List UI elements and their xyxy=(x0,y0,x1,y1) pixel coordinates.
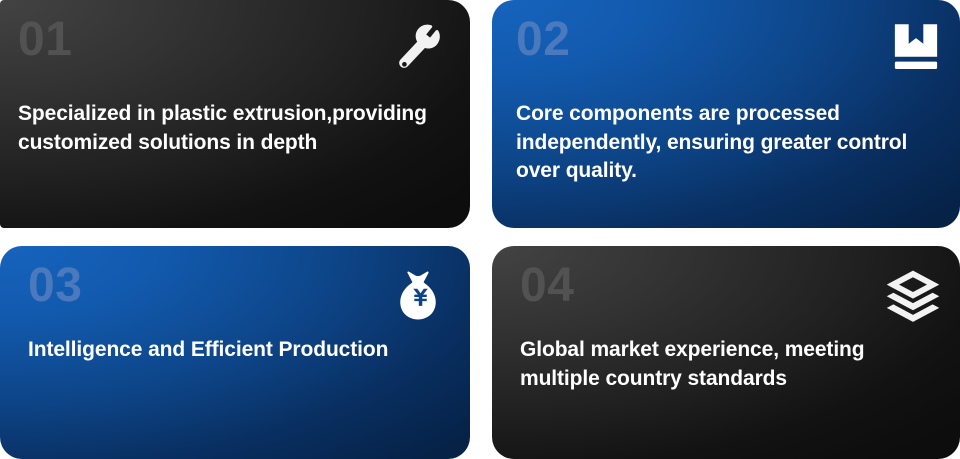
card-text-03: Intelligence and Efficient Production xyxy=(28,336,448,365)
card-number-01: 01 xyxy=(18,16,72,64)
card-number-04: 04 xyxy=(520,262,574,310)
card-text-01: Specialized in plastic extrusion,providi… xyxy=(18,100,450,157)
feature-card-01[interactable]: 01 Specialized in plastic extrusion,prov… xyxy=(0,0,470,228)
feature-card-03[interactable]: 03 Intelligence and Efficient Production xyxy=(0,246,470,459)
card-number-03: 03 xyxy=(28,262,82,310)
money-bag-yen-icon xyxy=(390,266,446,326)
book-bookmark-icon xyxy=(890,20,942,74)
feature-card-04[interactable]: 04 Global market experience, meeting mul… xyxy=(492,246,960,459)
wrench-icon xyxy=(392,22,448,80)
card-text-02: Core components are processed independen… xyxy=(516,100,946,186)
card-text-04: Global market experience, meeting multip… xyxy=(520,336,940,393)
feature-card-02[interactable]: 02 Core components are processed indepen… xyxy=(492,0,960,228)
feature-card-grid: 01 Specialized in plastic extrusion,prov… xyxy=(0,0,960,459)
card-number-02: 02 xyxy=(516,16,570,64)
layers-stack-icon xyxy=(884,268,942,324)
